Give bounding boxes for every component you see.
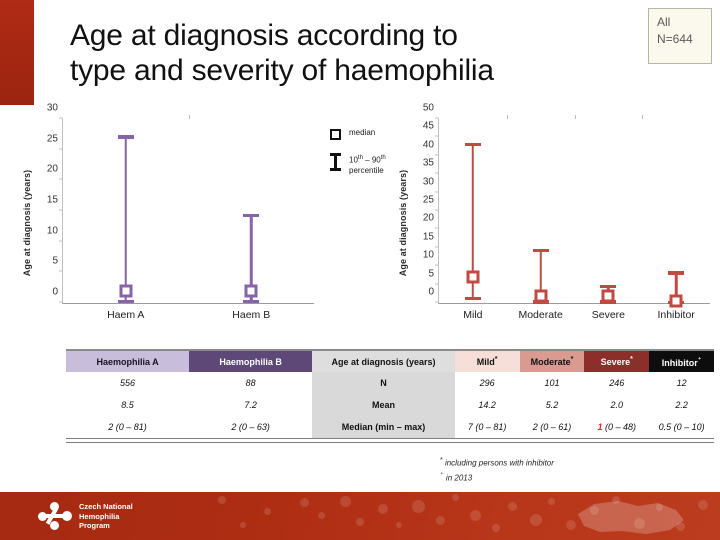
chart-by-type-y-axis-label: Age at diagnosis (years) bbox=[20, 115, 34, 330]
footer-banner: Czech National Hemophilia Program bbox=[0, 492, 720, 540]
table-cell: 246 bbox=[584, 372, 649, 394]
y-axis-tick-mark bbox=[59, 240, 63, 241]
whisker-cap-upper bbox=[668, 271, 684, 275]
y-axis-tick-label: 0 bbox=[52, 287, 63, 298]
table-cell: 101 bbox=[520, 372, 585, 394]
decorative-dot bbox=[452, 494, 459, 501]
x-axis-category-label: Haem B bbox=[232, 309, 270, 321]
y-axis-tick-label: 50 bbox=[423, 103, 439, 114]
y-axis-tick-label: 0 bbox=[428, 287, 439, 298]
whisker-cap-upper bbox=[465, 143, 481, 147]
decorative-dot bbox=[698, 500, 708, 510]
decorative-dot bbox=[356, 518, 364, 526]
y-axis-tick-mark bbox=[59, 271, 63, 272]
table-cell: 296 bbox=[455, 372, 520, 394]
decorative-dot bbox=[470, 510, 481, 521]
table-header-cell: Mild* bbox=[455, 351, 520, 372]
box-whisker-marker bbox=[117, 137, 135, 303]
table-header-cell: Age at diagnosis (years) bbox=[312, 351, 455, 372]
x-axis-tick-mark bbox=[507, 115, 508, 119]
whisker-cap-upper bbox=[243, 214, 259, 218]
y-axis-tick-mark bbox=[59, 210, 63, 211]
table-cell: 12 bbox=[649, 372, 714, 394]
x-axis-category-label: Mild bbox=[463, 309, 482, 321]
chart-by-severity-plot-area: 05101520253035404550MildModerateSevereIn… bbox=[438, 119, 710, 304]
table-cell: 2.2 bbox=[649, 394, 714, 416]
median-marker bbox=[534, 289, 547, 302]
title-accent-bar bbox=[0, 0, 34, 105]
x-axis-category-label: Severe bbox=[592, 309, 625, 321]
y-axis-tick-mark bbox=[435, 210, 439, 211]
y-axis-tick-label: 10 bbox=[423, 250, 439, 261]
table-cell: 556 bbox=[66, 372, 189, 394]
x-axis-category-label: Moderate bbox=[518, 309, 562, 321]
y-axis-tick-label: 10 bbox=[47, 225, 63, 236]
organization-logo: Czech National Hemophilia Program bbox=[38, 502, 133, 531]
decorative-dot bbox=[530, 514, 542, 526]
table-header-row: Haemophilia AHaemophilia BAge at diagnos… bbox=[66, 351, 714, 372]
legend-item-median: median bbox=[330, 128, 400, 140]
chart-by-severity: Age at diagnosis (years) 051015202530354… bbox=[398, 115, 718, 330]
x-axis-category-label: Haem A bbox=[107, 309, 144, 321]
chart-by-type: Age at diagnosis (years) 051015202530Hae… bbox=[22, 115, 342, 330]
table-cell: 2.0 bbox=[584, 394, 649, 416]
chart-legend: median 10th – 90th percentile bbox=[330, 128, 400, 189]
table-row-label: Mean bbox=[312, 394, 455, 416]
decorative-dot bbox=[218, 496, 226, 504]
y-axis-tick-mark bbox=[435, 228, 439, 229]
decorative-dot bbox=[508, 502, 517, 511]
legend-item-percentile: 10th – 90th percentile bbox=[330, 153, 400, 176]
y-axis-tick-mark bbox=[435, 136, 439, 137]
cohort-badge: All N=644 bbox=[648, 8, 712, 64]
table-cell: 2 (0 – 63) bbox=[189, 416, 312, 439]
footnotes: * including persons with inhibitor ⁺ in … bbox=[440, 455, 554, 484]
y-axis-tick-mark bbox=[59, 302, 63, 303]
table-row: 55688N29610124612 bbox=[66, 372, 714, 394]
decorative-dot bbox=[378, 504, 388, 514]
y-axis-tick-mark bbox=[435, 246, 439, 247]
median-marker bbox=[466, 271, 479, 284]
table-cell: 2 (0 – 81) bbox=[66, 416, 189, 439]
y-axis-tick-mark bbox=[59, 148, 63, 149]
box-whisker-marker bbox=[532, 251, 550, 303]
footnote-1: * including persons with inhibitor bbox=[440, 455, 554, 470]
table-header-cell: Haemophilia B bbox=[189, 351, 312, 372]
y-axis-tick-label: 40 bbox=[423, 139, 439, 150]
y-axis-tick-label: 20 bbox=[47, 164, 63, 175]
decorative-dot bbox=[264, 508, 271, 515]
median-marker bbox=[670, 295, 683, 308]
whisker-cap-lower bbox=[465, 297, 481, 301]
y-axis-tick-label: 45 bbox=[423, 121, 439, 132]
table-cell: 88 bbox=[189, 372, 312, 394]
table-cell: 7.2 bbox=[189, 394, 312, 416]
median-marker bbox=[245, 284, 258, 297]
decorative-dot bbox=[412, 500, 425, 513]
table-header-cell: Haemophilia A bbox=[66, 351, 189, 372]
decorative-dot bbox=[300, 498, 309, 507]
table-cell: 7 (0 – 81) bbox=[455, 416, 520, 439]
table-row-label: Median (min – max) bbox=[312, 416, 455, 439]
table-header-cell: Severe* bbox=[584, 351, 649, 372]
legend-median-label: median bbox=[349, 128, 375, 138]
decorative-dot bbox=[240, 522, 246, 528]
y-axis-tick-mark bbox=[435, 265, 439, 266]
median-square-icon bbox=[330, 129, 341, 140]
whisker-cap-upper bbox=[600, 285, 616, 289]
whisker-cap-upper bbox=[118, 135, 134, 139]
chart-by-severity-y-axis-label: Age at diagnosis (years) bbox=[396, 115, 410, 330]
table-bottom-rule bbox=[66, 439, 714, 443]
median-marker bbox=[602, 289, 615, 302]
y-axis-tick-mark bbox=[435, 283, 439, 284]
percentile-ibar-icon bbox=[330, 153, 341, 171]
median-marker bbox=[119, 284, 132, 297]
whisker-stem bbox=[125, 137, 128, 301]
x-axis-tick-mark bbox=[189, 115, 190, 119]
y-axis-tick-label: 5 bbox=[428, 268, 439, 279]
y-axis-tick-label: 25 bbox=[423, 195, 439, 206]
box-whisker-marker bbox=[599, 287, 617, 303]
y-axis-tick-label: 30 bbox=[47, 103, 63, 114]
decorative-dot bbox=[340, 496, 351, 507]
table-header-cell: Moderate* bbox=[520, 351, 585, 372]
cohort-badge-count: N=644 bbox=[657, 31, 711, 48]
table-cell: 1 (0 – 48) bbox=[584, 416, 649, 439]
page-title-line1: Age at diagnosis according to bbox=[70, 19, 458, 52]
legend-percentile-label: 10th – 90th percentile bbox=[349, 153, 386, 176]
y-axis-tick-label: 35 bbox=[423, 158, 439, 169]
box-whisker-marker bbox=[464, 145, 482, 303]
table-cell: 14.2 bbox=[455, 394, 520, 416]
decorative-dot bbox=[436, 516, 445, 525]
decorative-dot bbox=[396, 522, 402, 528]
box-whisker-marker bbox=[242, 216, 260, 303]
whisker-cap-upper bbox=[533, 249, 549, 253]
y-axis-tick-label: 25 bbox=[47, 133, 63, 144]
y-axis-tick-label: 30 bbox=[423, 176, 439, 187]
table-header-cell: Inhibitor⁺ bbox=[649, 351, 714, 372]
whisker-cap-lower bbox=[118, 300, 134, 304]
organization-name: Czech National Hemophilia Program bbox=[79, 502, 133, 531]
summary-table: Haemophilia AHaemophilia BAge at diagnos… bbox=[66, 349, 714, 443]
chart-by-type-plot-area: 051015202530Haem AHaem B bbox=[62, 119, 314, 304]
y-axis-tick-label: 20 bbox=[423, 213, 439, 224]
whisker-cap-lower bbox=[243, 300, 259, 304]
decorative-dot bbox=[318, 512, 325, 519]
page-title-line2: type and severity of haemophilia bbox=[70, 53, 630, 88]
table-row: 8.57.2Mean14.25.22.02.2 bbox=[66, 394, 714, 416]
box-whisker-marker bbox=[667, 273, 685, 303]
y-axis-tick-mark bbox=[435, 154, 439, 155]
decorative-dot bbox=[548, 498, 555, 505]
molecule-logo-icon bbox=[38, 502, 72, 530]
x-axis-tick-mark bbox=[575, 115, 576, 119]
cohort-badge-label: All bbox=[657, 14, 711, 31]
y-axis-tick-mark bbox=[435, 173, 439, 174]
footnote-2: ⁺ in 2013 bbox=[440, 470, 554, 485]
table-row-label: N bbox=[312, 372, 455, 394]
y-axis-tick-mark bbox=[59, 118, 63, 119]
table-cell: 0.5 (0 – 10) bbox=[649, 416, 714, 439]
y-axis-tick-mark bbox=[435, 118, 439, 119]
x-axis-category-label: Inhibitor bbox=[657, 309, 694, 321]
slide-canvas: Age at diagnosis according to type and s… bbox=[0, 0, 720, 540]
y-axis-tick-mark bbox=[59, 179, 63, 180]
y-axis-tick-label: 15 bbox=[47, 195, 63, 206]
table-cell: 8.5 bbox=[66, 394, 189, 416]
table-cell: 2 (0 – 61) bbox=[520, 416, 585, 439]
page-title: Age at diagnosis according to type and s… bbox=[70, 18, 630, 89]
y-axis-tick-label: 5 bbox=[52, 256, 63, 267]
y-axis-tick-mark bbox=[435, 191, 439, 192]
table-cell: 5.2 bbox=[520, 394, 585, 416]
table-row: 2 (0 – 81)2 (0 – 63)Median (min – max)7 … bbox=[66, 416, 714, 439]
decorative-dot bbox=[492, 524, 500, 532]
czech-republic-map-icon bbox=[572, 496, 692, 538]
y-axis-tick-label: 15 bbox=[423, 231, 439, 242]
x-axis-tick-mark bbox=[642, 115, 643, 119]
y-axis-tick-mark bbox=[435, 302, 439, 303]
